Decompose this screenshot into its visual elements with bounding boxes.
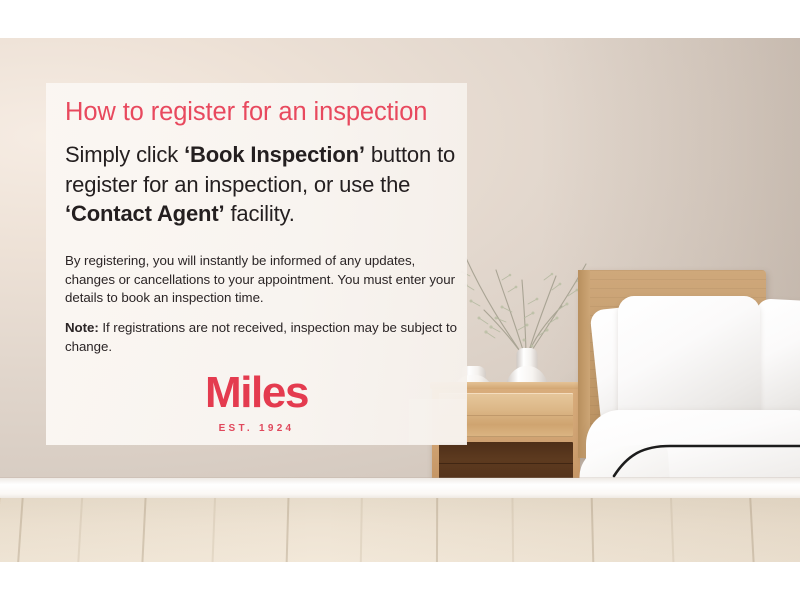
floor-shading [0, 498, 800, 562]
note-paragraph: Note: If registrations are not received,… [65, 319, 457, 356]
logo-wordmark: Miles [46, 371, 467, 415]
info-panel: How to register for an inspection Simply… [46, 83, 467, 445]
letterbox-bottom [0, 562, 800, 600]
logo-tagline: EST. 1924 [46, 423, 467, 434]
book-inspection-label: ‘Book Inspection’ [184, 142, 365, 167]
lede-text-3: facility. [225, 201, 295, 226]
registration-info-paragraph: By registering, you will instantly be in… [65, 252, 457, 308]
wood-floor [0, 498, 800, 562]
page-title: How to register for an inspection [65, 97, 427, 127]
screenshot-canvas: How to register for an inspection Simply… [0, 0, 800, 600]
lede-text-1: Simply click [65, 142, 184, 167]
letterbox-top [0, 0, 800, 38]
nightstand-shelf-seam [439, 463, 573, 464]
contact-agent-label: ‘Contact Agent’ [65, 201, 225, 226]
note-label: Note: [65, 320, 99, 335]
nightstand-open-shelf [439, 442, 573, 481]
pillow-front [618, 296, 760, 428]
lede-paragraph: Simply click ‘Book Inspection’ button to… [65, 140, 465, 229]
miles-logo: Miles EST. 1924 [46, 371, 467, 434]
skirting-board [0, 478, 800, 500]
info-panel-content: How to register for an inspection Simply… [46, 83, 467, 445]
note-text: If registrations are not received, inspe… [65, 320, 457, 354]
